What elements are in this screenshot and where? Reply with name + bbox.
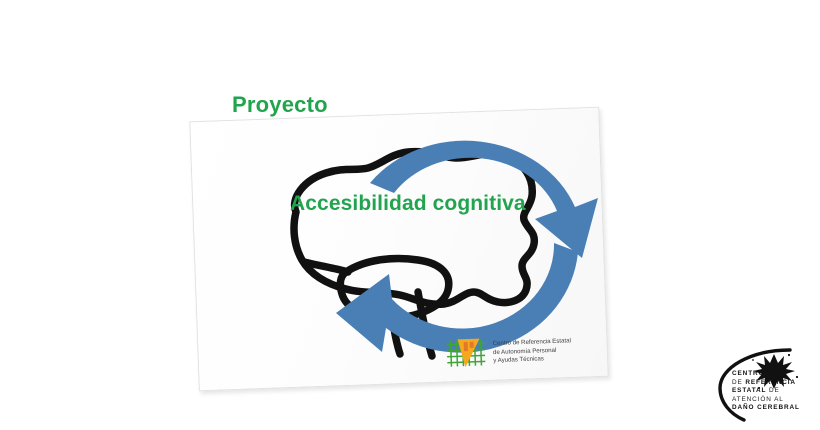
ceadac-logo: CENTRO DE REFERENCIA ESTATAL DE ATENCIÓN…	[704, 344, 812, 424]
page-title: Proyecto	[232, 92, 328, 118]
slide-subtitle: Accesibilidad cognitiva	[290, 192, 526, 216]
ceapat-logo-text: Centro de Referencia Estatal de Autonomí…	[493, 338, 572, 366]
slide-photo: Proyecto Accesibilidad cognitiva Centro …	[186, 80, 616, 400]
ceapat-logo: Centro de Referencia Estatal de Autonomí…	[443, 327, 604, 377]
ceadac-line-2-thin: DE	[732, 379, 743, 386]
ceadac-line-3-thin: DE	[769, 387, 780, 394]
ceapat-grid-triangle-icon	[443, 336, 488, 372]
ceadac-line-3-bold: ESTATAL	[732, 387, 766, 394]
ceadac-logo-text: CENTRO DE REFERENCIA ESTATAL DE ATENCIÓN…	[732, 370, 810, 413]
ceadac-line-2: DE REFERENCIA	[732, 379, 810, 388]
ceadac-line-5: DAÑO CEREBRAL	[732, 404, 810, 413]
ceadac-line-1: CENTRO	[732, 370, 810, 379]
ceapat-line-3: y Ayudas Técnicas	[493, 355, 572, 366]
ceadac-line-2-bold: REFERENCIA	[745, 379, 796, 386]
ceadac-line-3: ESTATAL DE	[732, 387, 810, 396]
